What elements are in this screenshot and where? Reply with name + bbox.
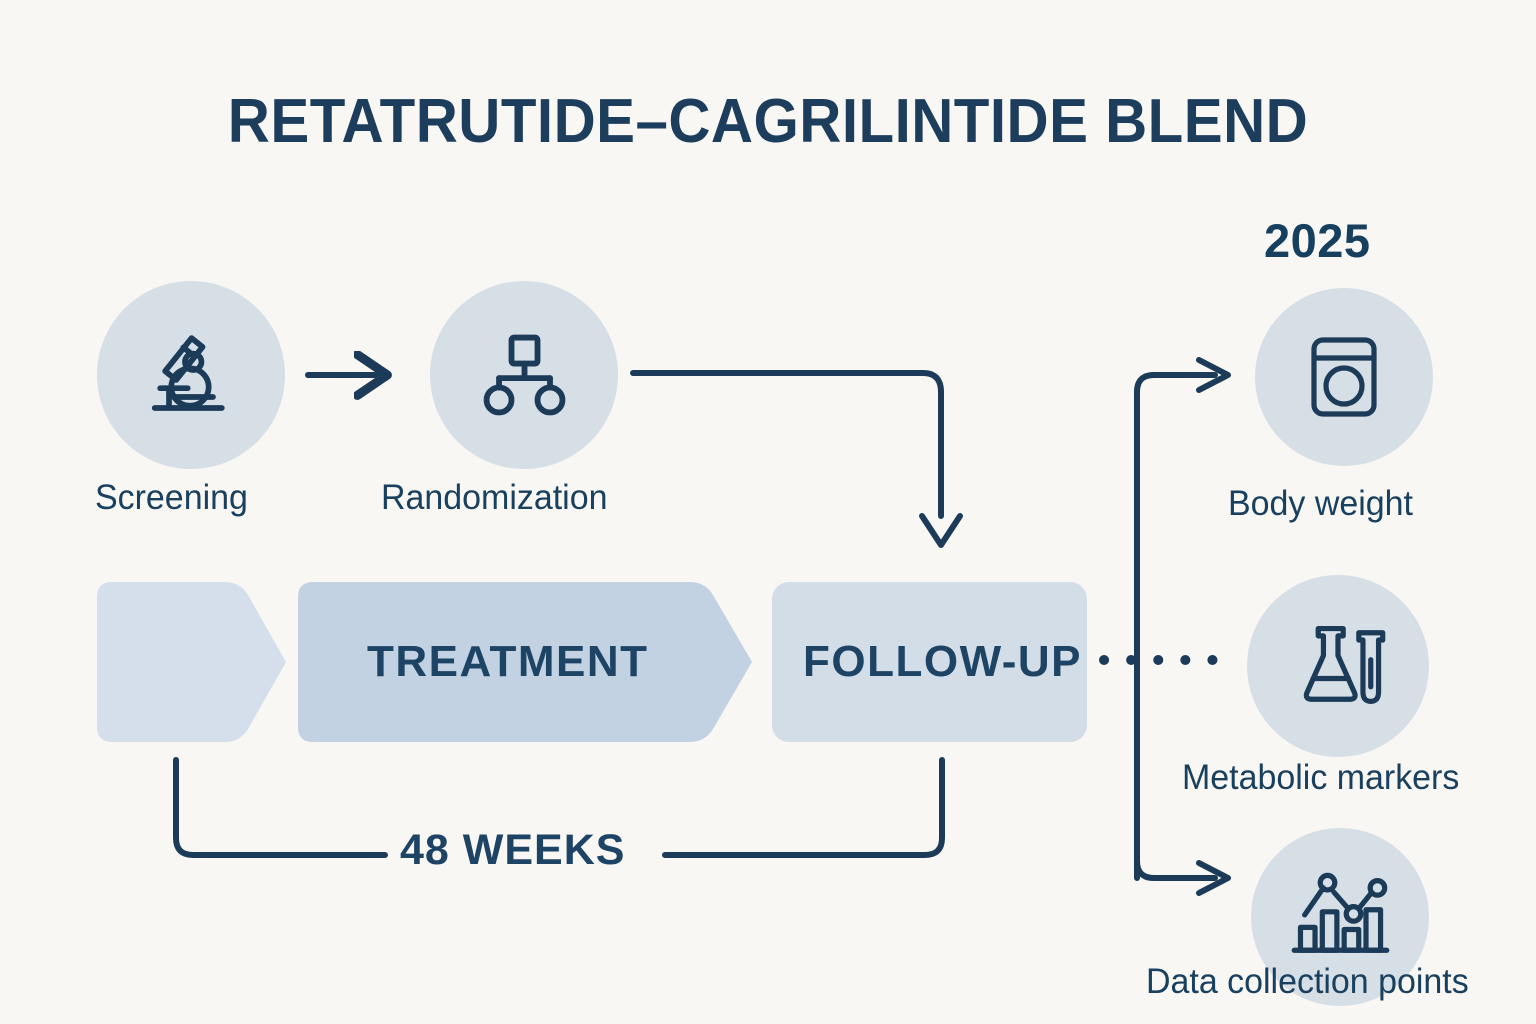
node-label-randomization: Randomization [381,478,607,518]
hierarchy-icon [472,323,576,427]
bar-line-chart-icon [1288,865,1392,969]
node-screening[interactable] [97,281,285,469]
outcome-label-metabolic-markers: Metabolic markers [1182,758,1459,798]
outcome-label-data-collection: Data collection points [1146,962,1469,1002]
stage-shape-pre[interactable] [97,582,286,742]
duration-label: 48 WEEKS [400,826,625,875]
outcome-body-weight[interactable] [1255,288,1433,466]
microscope-icon [136,320,246,430]
node-label-screening: Screening [95,478,248,518]
stage-label-followup: FOLLOW-UP [803,637,1082,687]
diagram-canvas: RETATRUTIDE–CAGRILINTIDE BLEND 2025 [0,0,1536,1024]
outcome-label-body-weight: Body weight [1228,484,1413,524]
node-randomization[interactable] [430,281,618,469]
flask-testtube-icon [1286,614,1390,718]
scale-icon [1294,327,1394,427]
stage-label-treatment: TREATMENT [367,637,649,687]
outcome-metabolic-markers[interactable] [1247,575,1429,757]
